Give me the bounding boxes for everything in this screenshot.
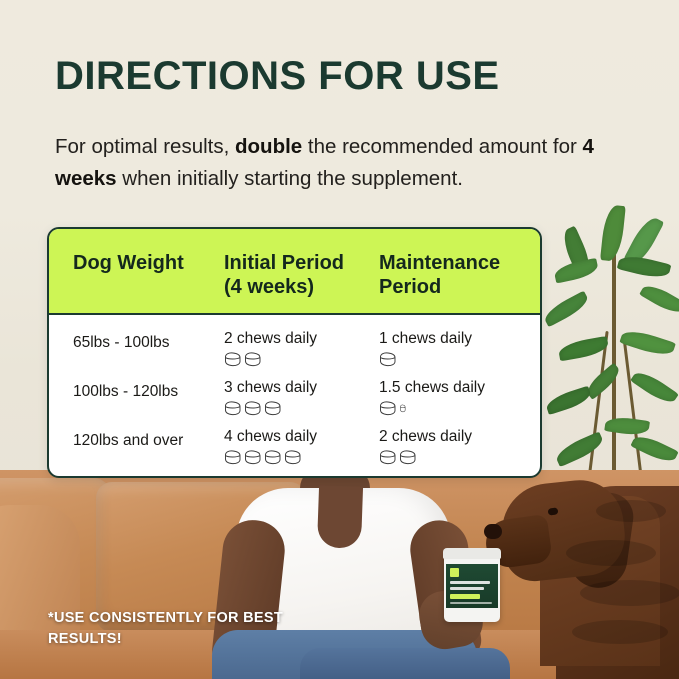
- half-chew-icon: [399, 401, 409, 416]
- chew-icon: [264, 450, 281, 465]
- column-header-dog-weight: Dog Weight: [49, 229, 224, 313]
- column-header-maintenance-period: Maintenance Period: [379, 229, 535, 313]
- column-header-initial-period: Initial Period (4 weeks): [224, 229, 379, 313]
- dog-weight-cell: 120lbs and over: [49, 427, 224, 476]
- page-subtitle: For optimal results, double the recommen…: [55, 131, 635, 196]
- maintenance-dose-cell: 1.5 chews daily: [379, 378, 535, 427]
- table-row: 120lbs and over4 chews daily2 chews dail…: [49, 427, 540, 476]
- initial-dose-chew-icons: [224, 350, 379, 367]
- maintenance-dose-text: 1 chews daily: [379, 329, 535, 348]
- dog-weight-cell: 65lbs - 100lbs: [49, 329, 224, 378]
- initial-dose-text: 3 chews daily: [224, 378, 379, 397]
- infographic-root: DIRECTIONS FOR USE For optimal results, …: [0, 0, 679, 679]
- initial-dose-cell: 2 chews daily: [224, 329, 379, 378]
- table-body: 65lbs - 100lbs2 chews daily1 chews daily…: [49, 315, 540, 476]
- maintenance-dose-text: 1.5 chews daily: [379, 378, 535, 397]
- initial-dose-chew-icons: [224, 448, 379, 465]
- maintenance-dose-chew-icons: [379, 399, 535, 416]
- chew-icon: [244, 352, 261, 367]
- chew-icon: [244, 401, 261, 416]
- maintenance-dose-cell: 2 chews daily: [379, 427, 535, 476]
- maintenance-dose-chew-icons: [379, 350, 535, 367]
- subtitle-part-2: the recommended amount for: [302, 135, 582, 158]
- maintenance-dose-text: 2 chews daily: [379, 427, 535, 446]
- chew-icon: [264, 401, 281, 416]
- consistency-note: *USE CONSISTENTLY FOR BEST RESULTS!: [48, 608, 298, 650]
- initial-dose-cell: 4 chews daily: [224, 427, 379, 476]
- chew-icon: [224, 352, 241, 367]
- subtitle-bold-double: double: [235, 135, 302, 158]
- dog-weight-cell: 100lbs - 120lbs: [49, 378, 224, 427]
- subtitle-part-3: when initially starting the supplement.: [117, 167, 463, 190]
- page-title: DIRECTIONS FOR USE: [55, 56, 500, 96]
- chew-icon: [244, 450, 261, 465]
- initial-dose-text: 4 chews daily: [224, 427, 379, 446]
- table-row: 65lbs - 100lbs2 chews daily1 chews daily: [49, 329, 540, 378]
- table-row: 100lbs - 120lbs3 chews daily1.5 chews da…: [49, 378, 540, 427]
- chew-icon: [284, 450, 301, 465]
- subtitle-part-1: For optimal results,: [55, 135, 235, 158]
- table-header-row: Dog Weight Initial Period (4 weeks) Main…: [49, 229, 540, 315]
- maintenance-dose-chew-icons: [379, 448, 535, 465]
- chew-icon: [399, 450, 416, 465]
- initial-dose-text: 2 chews daily: [224, 329, 379, 348]
- chew-icon: [224, 450, 241, 465]
- initial-dose-chew-icons: [224, 399, 379, 416]
- maintenance-dose-cell: 1 chews daily: [379, 329, 535, 378]
- dosage-table-card: Dog Weight Initial Period (4 weeks) Main…: [47, 227, 542, 478]
- chew-icon: [379, 352, 396, 367]
- initial-dose-cell: 3 chews daily: [224, 378, 379, 427]
- chew-icon: [379, 450, 396, 465]
- chew-icon: [224, 401, 241, 416]
- chew-icon: [379, 401, 396, 416]
